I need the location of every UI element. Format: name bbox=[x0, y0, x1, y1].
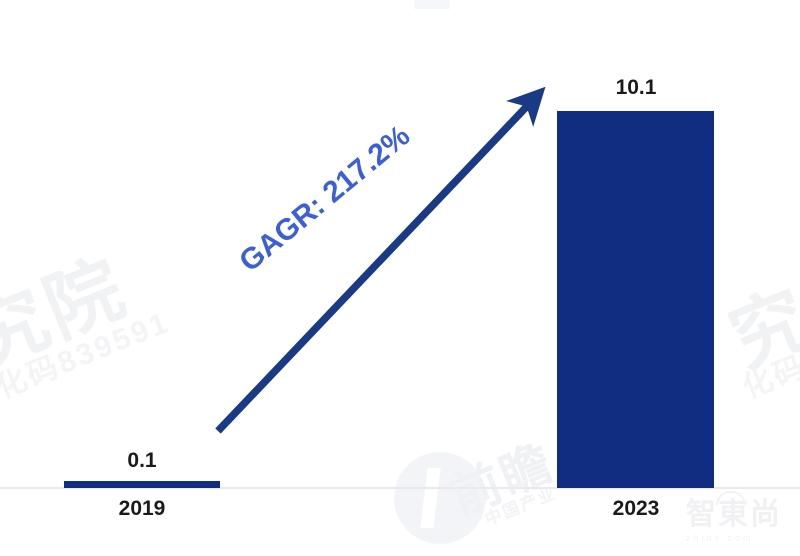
watermark-left-code: 化码839591 bbox=[0, 297, 176, 407]
chart-container: 究院 化码839591 究院 化码839591 前瞻 中国产业 智東尚 zhid… bbox=[0, 0, 800, 556]
bar-2023 bbox=[557, 111, 714, 488]
value-label-2019: 0.1 bbox=[92, 449, 192, 473]
watermark-left-cjk: 究院 bbox=[0, 226, 141, 388]
category-label-2019: 2019 bbox=[92, 497, 192, 521]
category-label-2023: 2023 bbox=[586, 497, 686, 521]
watermark-brand-cjk: 智東尚 bbox=[686, 500, 782, 530]
watermark-right-code: 化码839591 bbox=[734, 297, 800, 407]
watermark-center-logo-icon bbox=[394, 452, 486, 544]
watermark-center-cjk: 前瞻 bbox=[438, 423, 563, 529]
watermark-brand: 智東尚 zhidx.com bbox=[686, 500, 782, 543]
wifi-arc-icon bbox=[716, 491, 746, 505]
bar-2019 bbox=[64, 481, 220, 488]
watermark-brand-sub: zhidx.com bbox=[686, 533, 782, 543]
cagr-annotation-label: GAGR: 217.2% bbox=[233, 119, 417, 279]
watermark-right-cjk: 究院 bbox=[711, 226, 800, 388]
top-crop-mark bbox=[414, 0, 450, 9]
value-label-2023: 10.1 bbox=[586, 76, 686, 100]
